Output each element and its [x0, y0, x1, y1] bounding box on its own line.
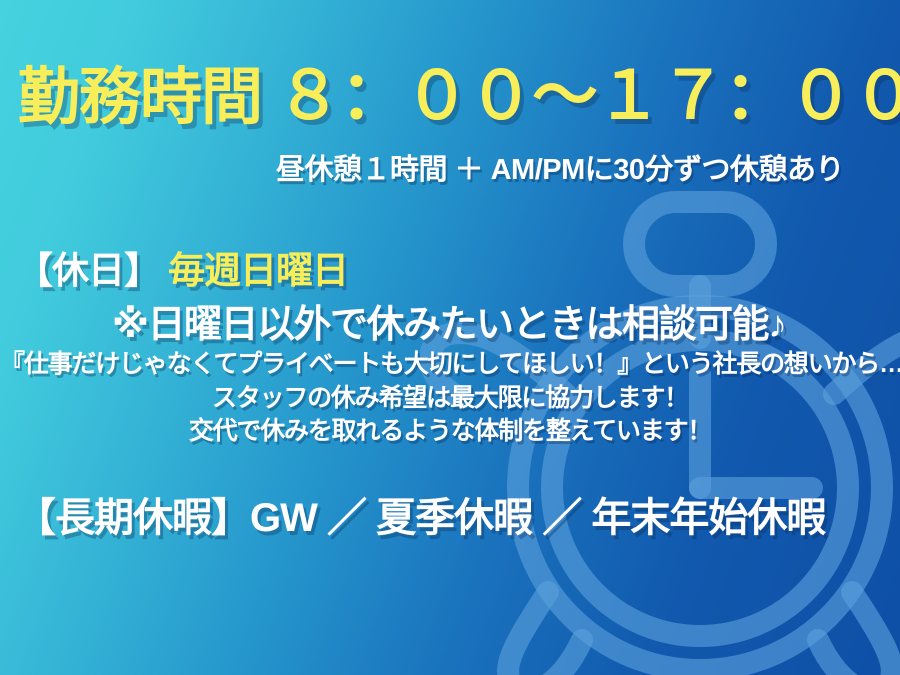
message-line-1: 『仕事だけじゃなくてプライベートも大切にしてほしい！』という社長の想いから… — [0, 348, 900, 382]
holiday-tag: 【休日】 — [16, 250, 160, 291]
headline-time: ８：００〜１７：００ — [276, 58, 900, 132]
message-line-2: スタッフの休み希望は最大限に協力します！ — [0, 382, 900, 416]
message-line-3: 交代で休みを取れるような体制を整えています！ — [0, 415, 900, 449]
headline-row: 勤務時間８：００〜１７：００ — [18, 62, 900, 129]
holiday-value: 毎週日曜日 — [168, 250, 348, 291]
text-layer: 勤務時間８：００〜１７：００ 昼休憩１時間 ＋ AM/PMに30分ずつ休憩あり … — [0, 0, 900, 675]
message-paragraph: 『仕事だけじゃなくてプライベートも大切にしてほしい！』という社長の想いから… ス… — [0, 348, 900, 449]
break-subline: 昼休憩１時間 ＋ AM/PMに30分ずつ休憩あり — [276, 146, 844, 188]
long-vacation-row: 【長期休暇】GW ／ 夏季休暇 ／ 年末年始休暇 — [16, 485, 825, 543]
holiday-note: ※日曜日以外で休みたいときは相談可能♪ — [112, 293, 785, 348]
headline-label: 勤務時間 — [18, 63, 262, 132]
poster-canvas: 勤務時間８：００〜１７：００ 昼休憩１時間 ＋ AM/PMに30分ずつ休憩あり … — [0, 0, 900, 675]
holiday-row: 【休日】毎週日曜日 — [16, 240, 348, 294]
